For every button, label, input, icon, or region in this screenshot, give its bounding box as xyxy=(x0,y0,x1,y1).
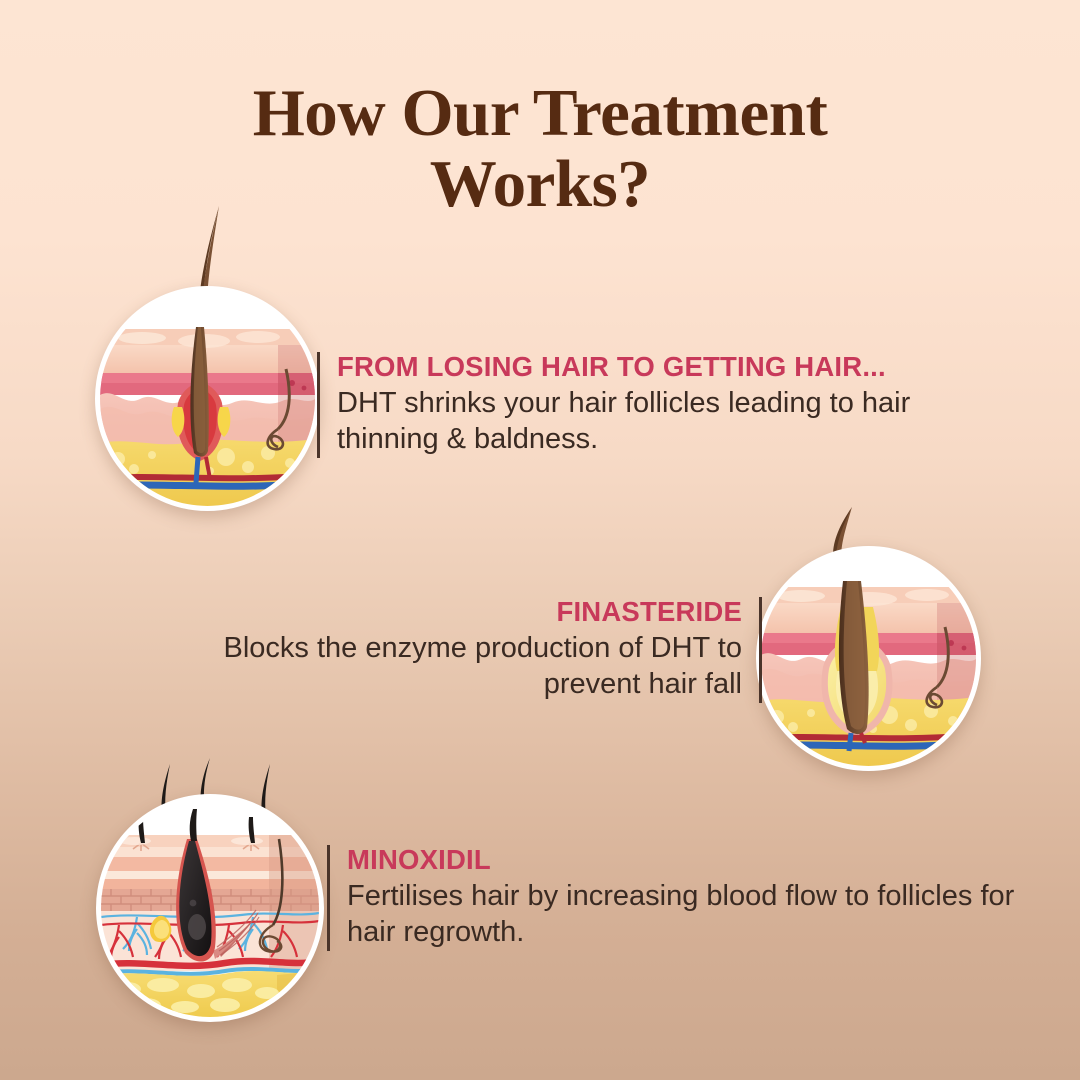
text-block-minoxidil: MINOXIDIL Fertilises hair by increasing … xyxy=(327,845,1047,951)
body-finasteride: Blocks the enzyme production of DHT to p… xyxy=(170,630,742,703)
page-title: How Our Treatment Works? xyxy=(0,78,1080,220)
body-losing-hair: DHT shrinks your hair follicles leading … xyxy=(337,385,997,458)
page-title-line-2: Works? xyxy=(0,149,1080,220)
illustration-blood-flow-follicle xyxy=(96,794,324,1022)
page-title-line-1: How Our Treatment xyxy=(253,76,828,150)
illustration-healthy-follicle xyxy=(756,546,981,771)
infographic-canvas: How Our Treatment Works? xyxy=(0,0,1080,1080)
body-minoxidil: Fertilises hair by increasing blood flow… xyxy=(347,878,1047,951)
kicker-minoxidil: MINOXIDIL xyxy=(347,845,1047,876)
kicker-finasteride: FINASTERIDE xyxy=(170,597,742,628)
kicker-losing-hair: FROM LOSING HAIR TO GETTING HAIR... xyxy=(337,352,997,383)
illustration-shrinking-follicle xyxy=(95,286,320,511)
text-block-losing-hair: FROM LOSING HAIR TO GETTING HAIR... DHT … xyxy=(317,352,997,458)
text-block-finasteride: FINASTERIDE Blocks the enzyme production… xyxy=(170,597,762,703)
